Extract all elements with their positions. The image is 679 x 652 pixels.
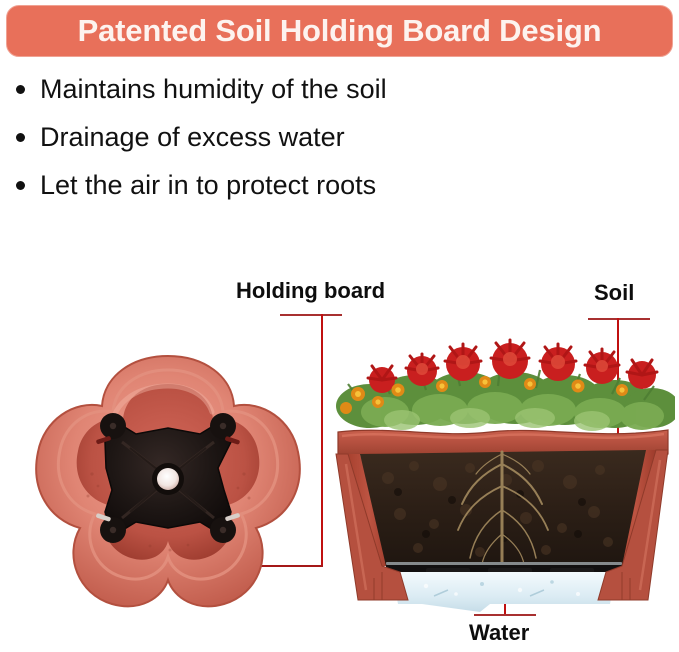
leader-line-holding-board-vertical [321,314,323,567]
water-reservoir [392,572,616,612]
callout-label-water: Water [469,620,529,646]
feature-text: Let the air in to protect roots [40,168,376,202]
bullet-point-icon [16,85,25,94]
bullet-point-icon [16,181,25,190]
product-diagram: Holding board Soil Water [0,250,679,652]
header-banner: Patented Soil Holding Board Design [6,5,673,57]
callout-underline-holding-board [280,314,342,316]
feature-text: Drainage of excess water [40,120,345,154]
drainage-hole [157,468,179,490]
feature-text: Maintains humidity of the soil [40,72,387,106]
list-item: Drainage of excess water [16,120,656,168]
page-title: Patented Soil Holding Board Design [78,13,602,49]
list-item: Maintains humidity of the soil [16,72,656,120]
holding-board-insert [96,413,241,543]
product-infographic: Patented Soil Holding Board Design Maint… [0,0,679,652]
pot-cross-section-image [330,328,675,618]
callout-label-soil: Soil [594,280,634,306]
bullet-point-icon [16,133,25,142]
callout-label-holding-board: Holding board [236,278,385,304]
pot-top-view-image [18,350,318,620]
callout-underline-soil [588,318,650,320]
list-item: Let the air in to protect roots [16,168,656,216]
feature-bullet-list: Maintains humidity of the soil Drainage … [16,72,656,216]
